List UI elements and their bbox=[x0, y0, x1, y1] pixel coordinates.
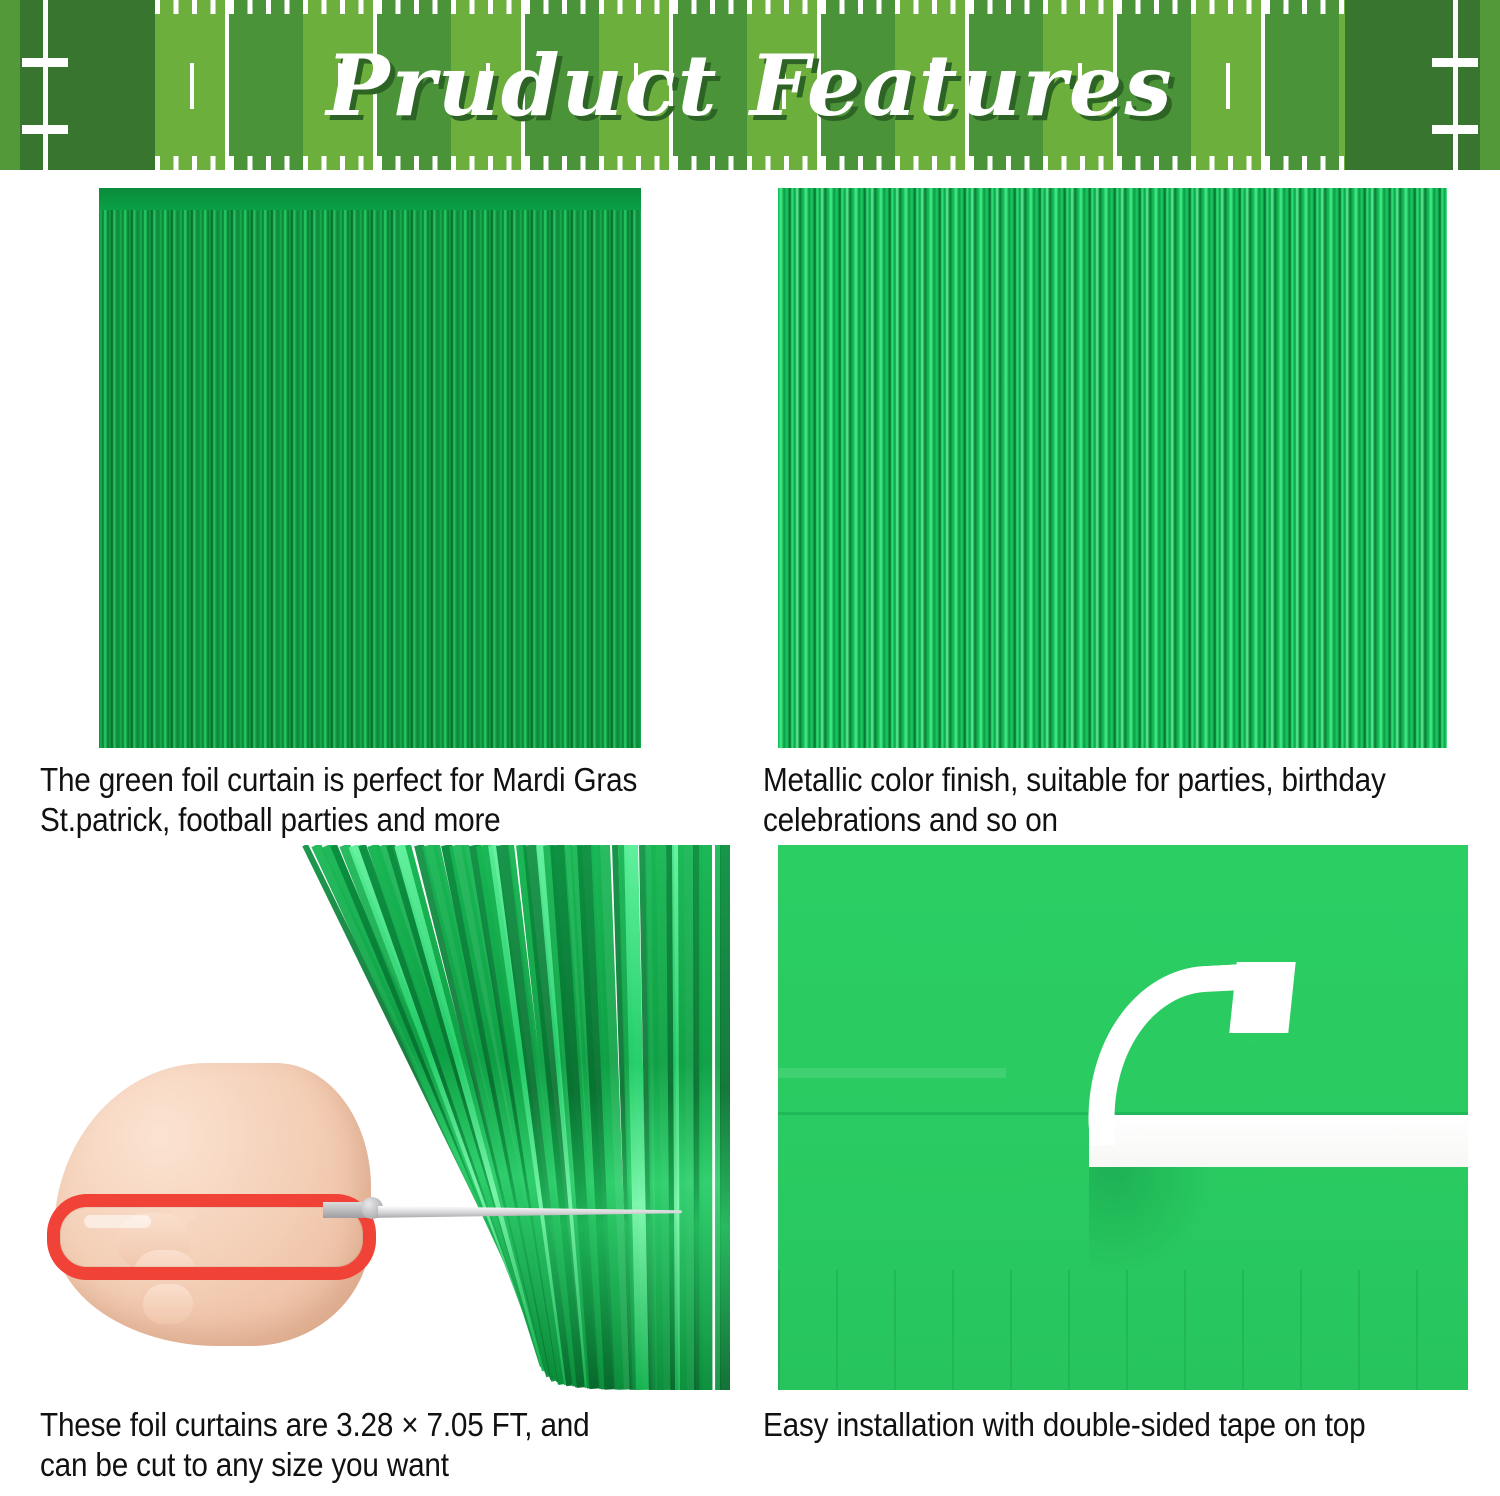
tape-free-end bbox=[1230, 962, 1296, 1033]
foil-fringe-texture bbox=[778, 188, 1447, 748]
curtain-header-strip bbox=[99, 188, 641, 210]
feature-1-image bbox=[99, 188, 641, 748]
tape-demo-scene bbox=[778, 845, 1468, 1390]
foil-fringe-texture bbox=[99, 188, 641, 748]
finger bbox=[143, 1284, 194, 1324]
foil-sheet-highlight bbox=[778, 1068, 1006, 1078]
tape-curl-surface bbox=[1081, 963, 1255, 1146]
tape-shadow bbox=[1089, 1167, 1213, 1276]
feature-2-caption: Metallic color finish, suitable for part… bbox=[763, 760, 1500, 841]
feature-1-caption: The green foil curtain is perfect for Ma… bbox=[40, 760, 760, 841]
foil-fringe-cut-lines bbox=[778, 1270, 1468, 1390]
foil-strand bbox=[720, 845, 730, 1390]
tape-peeled-curl bbox=[1085, 968, 1251, 1142]
foil-fringe-fanned bbox=[302, 845, 730, 1390]
page-title: Pruduct Features bbox=[0, 0, 1500, 170]
feature-2-image bbox=[778, 188, 1447, 748]
feature-3-image bbox=[40, 845, 730, 1390]
header-banner: Pruduct Features bbox=[0, 0, 1500, 170]
product-features-infographic: Pruduct Features The green foil curtain … bbox=[0, 0, 1500, 1496]
feature-4-image bbox=[778, 845, 1468, 1390]
foil-strand bbox=[699, 845, 712, 1390]
cutting-demo-scene bbox=[40, 845, 730, 1390]
feature-4-caption: Easy installation with double-sided tape… bbox=[763, 1405, 1500, 1445]
feature-3-caption: These foil curtains are 3.28 × 7.05 FT, … bbox=[40, 1405, 760, 1486]
